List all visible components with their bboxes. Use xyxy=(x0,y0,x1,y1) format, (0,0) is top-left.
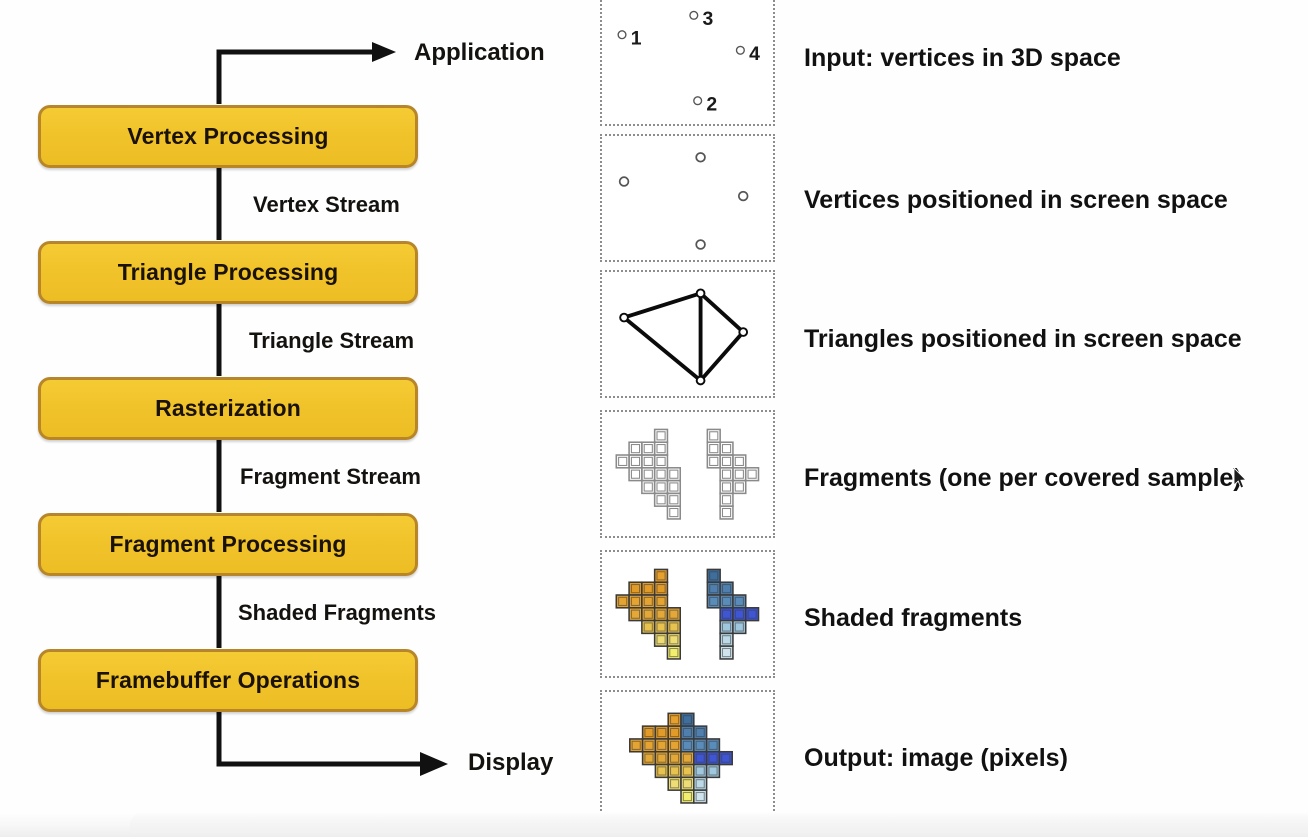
stage-label: Framebuffer Operations xyxy=(96,667,360,694)
panel-vertices-screen xyxy=(600,134,775,262)
panel-shaded-fragments xyxy=(600,550,775,678)
panel-vertices-3d: 1 2 3 4 xyxy=(600,0,775,126)
endpoint-application: Application xyxy=(414,39,545,67)
caption-text: Shaded fragments xyxy=(804,604,1022,632)
stage-label: Fragment Processing xyxy=(109,531,346,558)
svg-text:1: 1 xyxy=(631,27,642,49)
panel-output-image xyxy=(600,690,775,823)
caption-shaded-fragments: Shaded fragments xyxy=(804,604,1022,633)
panel-fragments xyxy=(600,410,775,538)
stream-shaded-fragments: Shaded Fragments xyxy=(238,600,436,626)
slide-canvas: Application Vertex Processing Vertex Str… xyxy=(0,0,1308,837)
stage-label: Triangle Processing xyxy=(118,259,338,286)
caption-text: Input: vertices in 3D space xyxy=(804,44,1121,72)
fragments-graphic xyxy=(602,412,773,536)
caption-fragments: Fragments (one per covered sample) xyxy=(804,464,1242,493)
stream-label: Vertex Stream xyxy=(253,192,400,217)
svg-text:4: 4 xyxy=(749,43,760,65)
stream-triangle-stream: Triangle Stream xyxy=(249,328,414,354)
stream-label: Triangle Stream xyxy=(249,328,414,353)
caption-vertices-screen: Vertices positioned in screen space xyxy=(804,186,1228,215)
stage-fragment-processing[interactable]: Fragment Processing xyxy=(38,513,418,576)
stage-framebuffer-operations[interactable]: Framebuffer Operations xyxy=(38,649,418,712)
caption-text: Vertices positioned in screen space xyxy=(804,186,1228,214)
caption-triangles-screen: Triangles positioned in screen space xyxy=(804,325,1242,354)
vertices-screen-graphic xyxy=(602,136,773,260)
panel-triangles-screen xyxy=(600,270,775,398)
stream-label: Shaded Fragments xyxy=(238,600,436,625)
stream-vertex-stream: Vertex Stream xyxy=(253,192,400,218)
stage-label: Vertex Processing xyxy=(127,123,328,150)
stream-fragment-stream: Fragment Stream xyxy=(240,464,421,490)
stage-vertex-processing[interactable]: Vertex Processing xyxy=(38,105,418,168)
endpoint-display-label: Display xyxy=(468,749,553,776)
shaded-fragments-graphic xyxy=(602,552,773,676)
svg-text:3: 3 xyxy=(703,8,714,30)
caption-text: Fragments (one per covered sample) xyxy=(804,464,1242,492)
caption-text: Triangles positioned in screen space xyxy=(804,325,1242,353)
vertices-3d-graphic: 1 2 3 4 xyxy=(602,0,773,124)
triangles-screen-graphic xyxy=(602,272,773,396)
caption-text: Output: image (pixels) xyxy=(804,744,1068,772)
caption-vertices-3d: Input: vertices in 3D space xyxy=(804,44,1121,73)
endpoint-application-label: Application xyxy=(414,39,545,66)
stage-rasterization[interactable]: Rasterization xyxy=(38,377,418,440)
stream-label: Fragment Stream xyxy=(240,464,421,489)
caption-output-image: Output: image (pixels) xyxy=(804,744,1068,773)
pipeline-flow-column: Application Vertex Processing Vertex Str… xyxy=(0,0,590,837)
page-bottom-curl xyxy=(130,811,1308,833)
stage-label: Rasterization xyxy=(155,395,301,422)
stage-triangle-processing[interactable]: Triangle Processing xyxy=(38,241,418,304)
output-image-graphic xyxy=(602,692,773,821)
svg-text:2: 2 xyxy=(706,93,717,115)
endpoint-display: Display xyxy=(468,749,553,777)
